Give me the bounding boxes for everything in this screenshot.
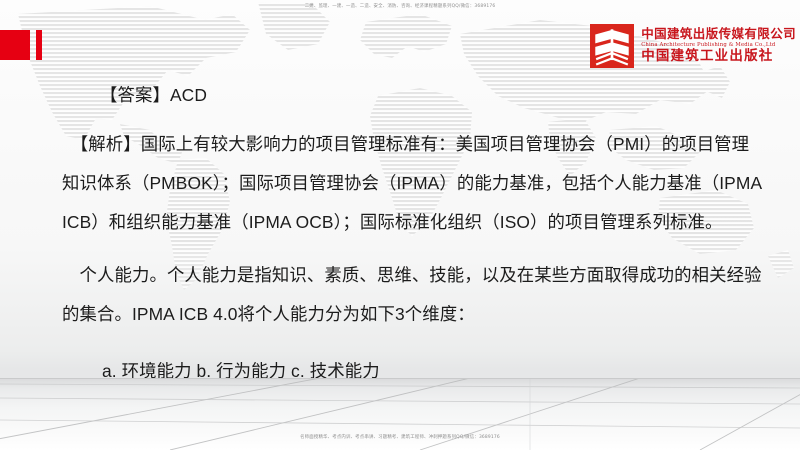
publisher-company-cn: 中国建筑出版传媒有限公司 — [641, 28, 796, 41]
slide-canvas: 二建、监理、一建、一造、二造、安全、消防、咨询、经济课程精题系列QQ/微信：36… — [0, 0, 800, 450]
dimensions-line: a. 环境能力 b. 行为能力 c. 技术能力 — [102, 352, 762, 391]
red-bar-icon — [36, 30, 42, 60]
publisher-press-cn: 中国建筑工业出版社 — [641, 50, 796, 64]
publisher-emblem-icon — [590, 24, 634, 68]
top-watermark-text: 二建、监理、一建、一造、二造、安全、消防、咨询、经济课程精题系列QQ/微信：36… — [0, 3, 800, 11]
analysis-paragraph: 【解析】国际上有较大影响力的项目管理标准有：美国项目管理协会（PMI）的项目管理… — [62, 125, 762, 242]
red-block-icon — [0, 30, 30, 60]
answer-line: 【答案】ACD — [100, 76, 762, 115]
ability-paragraph: 个人能力。个人能力是指知识、素质、思维、技能，以及在某些方面取得成功的相关经验的… — [62, 256, 762, 334]
red-accent-mark — [0, 30, 42, 60]
publisher-logo-text: 中国建筑出版传媒有限公司 China Architecture Publishi… — [641, 28, 796, 64]
bottom-watermark-text: 名师面授精华、考点内训、考点串讲、习题精考、建筑工程师、冲刺押题系列QQ/微信：… — [0, 434, 800, 442]
publisher-logo: 中国建筑出版传媒有限公司 China Architecture Publishi… — [590, 24, 796, 68]
slide-content: 【答案】ACD 【解析】国际上有较大影响力的项目管理标准有：美国项目管理协会（P… — [62, 76, 762, 391]
